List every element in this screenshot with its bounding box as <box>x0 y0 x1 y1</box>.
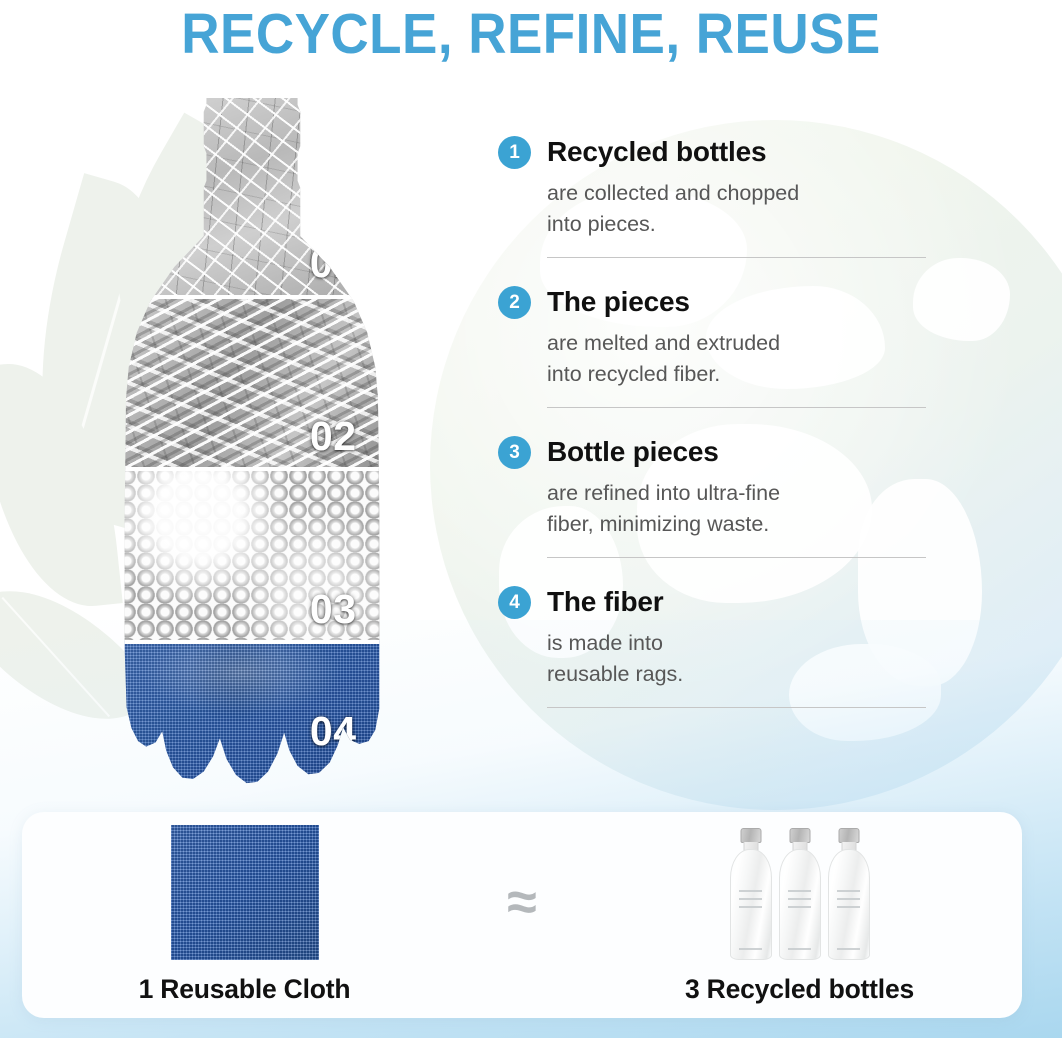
step-description-line: into recycled fiber. <box>547 359 926 390</box>
step-number-badge: 2 <box>498 286 531 319</box>
step-description: is made into reusable rags. <box>547 628 926 689</box>
comparison-content: 1 Reusable Cloth ≈ <box>22 812 1022 1018</box>
step-title: The fiber <box>547 587 663 618</box>
bottle-band-02: 02 <box>118 295 386 468</box>
comparison-right: 3 Recycled bottles <box>577 812 1022 1018</box>
infographic-poster: RECYCLE, REFINE, REUSE 01 02 03 04 1 <box>0 0 1062 1038</box>
page-title: RECYCLE, REFINE, REUSE <box>37 6 1025 63</box>
plastic-bottle-icon <box>730 828 772 960</box>
step-title: Recycled bottles <box>547 137 766 168</box>
band-number-label: 03 <box>310 586 357 633</box>
band-separator <box>118 295 386 299</box>
step-item-2: 2 The pieces are melted and extruded int… <box>498 286 926 408</box>
step-header: 4 The fiber <box>498 586 926 619</box>
spacer <box>498 408 926 436</box>
spacer <box>498 558 926 586</box>
bottle-row <box>730 828 870 960</box>
leaf-watermark-icon <box>0 354 123 615</box>
band-number-label: 02 <box>310 413 357 460</box>
step-description-line: is made into <box>547 628 926 659</box>
comparison-card: 1 Reusable Cloth ≈ <box>22 812 1022 1018</box>
step-description: are collected and chopped into pieces. <box>547 178 926 239</box>
step-description-line: into pieces. <box>547 209 926 240</box>
comparison-left-label: 1 Reusable Cloth <box>139 974 351 1005</box>
bottle-cap-icon <box>740 828 761 843</box>
plastic-bottle-icon <box>828 828 870 960</box>
bottle-body <box>730 849 772 960</box>
band-number-label: 01 <box>310 240 357 287</box>
approx-equals-icon: ≈ <box>507 875 537 929</box>
bottle-body <box>828 849 870 960</box>
comparison-left: 1 Reusable Cloth <box>22 812 467 1018</box>
step-description: are melted and extruded into recycled fi… <box>547 328 926 389</box>
comparison-right-label: 3 Recycled bottles <box>685 974 914 1005</box>
bottle-cap-icon <box>838 828 859 843</box>
approx-equals-wrap: ≈ <box>467 875 577 929</box>
step-description-line: reusable rags. <box>547 659 926 690</box>
band-number-label: 04 <box>310 708 357 755</box>
reusable-cloth-icon <box>171 825 319 960</box>
band-separator <box>118 640 386 644</box>
step-divider <box>547 557 926 558</box>
step-item-4: 4 The fiber is made into reusable rags. <box>498 586 926 708</box>
step-header: 3 Bottle pieces <box>498 436 926 469</box>
bottle-diagram: 01 02 03 04 <box>118 98 386 788</box>
step-number-badge: 4 <box>498 586 531 619</box>
step-title: Bottle pieces <box>547 437 719 468</box>
plastic-bottle-icon <box>779 828 821 960</box>
bottle-body <box>779 849 821 960</box>
step-description-line: are collected and chopped <box>547 178 926 209</box>
cloth-art <box>171 824 319 960</box>
bottles-art <box>730 824 870 960</box>
step-divider <box>547 407 926 408</box>
step-item-3: 3 Bottle pieces are refined into ultra-f… <box>498 436 926 558</box>
step-number-badge: 1 <box>498 136 531 169</box>
step-description: are refined into ultra-fine fiber, minim… <box>547 478 926 539</box>
step-title: The pieces <box>547 287 690 318</box>
spacer <box>498 258 926 286</box>
step-header: 1 Recycled bottles <box>498 136 926 169</box>
step-description-line: fiber, minimizing waste. <box>547 509 926 540</box>
step-number-badge: 3 <box>498 436 531 469</box>
bottle-band-04: 04 <box>118 640 386 788</box>
step-description-line: are melted and extruded <box>547 328 926 359</box>
bottle-band-03: 03 <box>118 467 386 640</box>
bottle-silhouette: 01 02 03 04 <box>118 98 386 788</box>
step-header: 2 The pieces <box>498 286 926 319</box>
step-divider <box>547 257 926 258</box>
steps-list: 1 Recycled bottles are collected and cho… <box>498 136 926 708</box>
step-description-line: are refined into ultra-fine <box>547 478 926 509</box>
bottle-cap-icon <box>789 828 810 843</box>
bottle-band-01: 01 <box>118 98 386 295</box>
step-item-1: 1 Recycled bottles are collected and cho… <box>498 136 926 258</box>
band-separator <box>118 467 386 471</box>
step-divider <box>547 707 926 708</box>
